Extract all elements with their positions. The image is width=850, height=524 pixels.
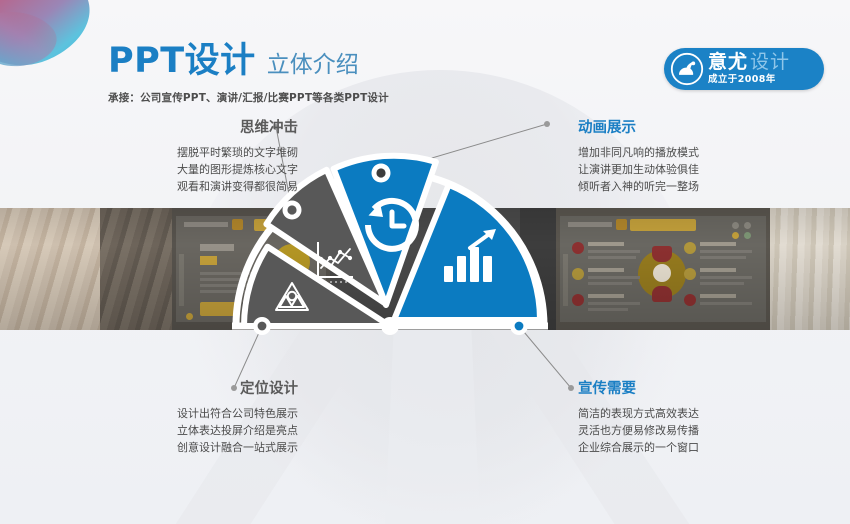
band-shading-overlay bbox=[0, 208, 850, 330]
photo-band bbox=[0, 208, 850, 330]
callout-line: 灵活也方便易修改易传播 bbox=[578, 422, 814, 439]
comet-circle-icon bbox=[670, 52, 704, 86]
callout-line: 让演讲更加生动体验俱佳 bbox=[578, 161, 814, 178]
callout-body: 增加非同凡响的播放模式 让演讲更加生动体验俱佳 倾听者入神的听完一整场 bbox=[578, 144, 814, 195]
callout-bottom-right: 宣传需要 简洁的表现方式高效表达 灵活也方便易修改易传播 企业综合展示的一个窗口 bbox=[578, 381, 814, 457]
callout-top-left: 思维冲击 摆脱平时繁琐的文字堆砌 大量的图形提炼核心文字 观看和演讲变得都很简易 bbox=[62, 120, 298, 196]
callout-title: 动画展示 bbox=[578, 120, 814, 137]
title-subtitle: 立体介绍 bbox=[267, 54, 359, 77]
callout-line: 简洁的表现方式高效表达 bbox=[578, 405, 814, 422]
callout-body: 设计出符合公司特色展示 立体表达投屏介绍是亮点 创意设计融合一站式展示 bbox=[62, 405, 298, 456]
callout-line: 企业综合展示的一个窗口 bbox=[578, 439, 814, 456]
callout-line: 立体表达投屏介绍是亮点 bbox=[62, 422, 298, 439]
logo-text-group: 意尤 设计 成立于2008年 bbox=[708, 53, 790, 85]
logo-established: 成立于2008年 bbox=[708, 75, 790, 85]
callout-top-right: 动画展示 增加非同凡响的播放模式 让演讲更加生动体验俱佳 倾听者入神的听完一整场 bbox=[578, 120, 814, 196]
callout-title: 定位设计 bbox=[62, 381, 298, 398]
poster-canvas: PPT设计 立体介绍 承接：公司宣传PPT、演讲/汇报/比赛PPT等各类PPT设… bbox=[0, 0, 850, 524]
callout-line: 大量的图形提炼核心文字 bbox=[62, 161, 298, 178]
callout-title: 思维冲击 bbox=[62, 120, 298, 137]
callout-line: 设计出符合公司特色展示 bbox=[62, 405, 298, 422]
brand-logo-badge[interactable]: 意尤 设计 成立于2008年 bbox=[664, 48, 824, 90]
title-main: PPT设计 bbox=[108, 44, 256, 79]
logo-name-light: 设计 bbox=[750, 53, 790, 72]
header-tagline: 承接：公司宣传PPT、演讲/汇报/比赛PPT等各类PPT设计 bbox=[108, 90, 389, 105]
callout-line: 倾听者入神的听完一整场 bbox=[578, 178, 814, 195]
callout-body: 摆脱平时繁琐的文字堆砌 大量的图形提炼核心文字 观看和演讲变得都很简易 bbox=[62, 144, 298, 195]
callout-line: 摆脱平时繁琐的文字堆砌 bbox=[62, 144, 298, 161]
callout-title: 宣传需要 bbox=[578, 381, 814, 398]
header-block: PPT设计 立体介绍 承接：公司宣传PPT、演讲/汇报/比赛PPT等各类PPT设… bbox=[108, 44, 389, 105]
logo-name-bold: 意尤 bbox=[708, 53, 748, 72]
callout-line: 增加非同凡响的播放模式 bbox=[578, 144, 814, 161]
callout-bottom-left: 定位设计 设计出符合公司特色展示 立体表达投屏介绍是亮点 创意设计融合一站式展示 bbox=[62, 381, 298, 457]
callout-body: 简洁的表现方式高效表达 灵活也方便易修改易传播 企业综合展示的一个窗口 bbox=[578, 405, 814, 456]
callout-line: 创意设计融合一站式展示 bbox=[62, 439, 298, 456]
callout-line: 观看和演讲变得都很简易 bbox=[62, 178, 298, 195]
page-title: PPT设计 立体介绍 bbox=[108, 44, 389, 79]
